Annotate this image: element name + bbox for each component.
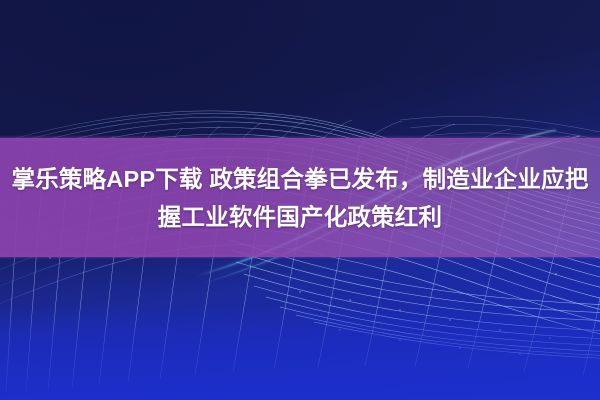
hero-banner: 掌乐策略APP下载 政策组合拳已发布，制造业企业应把握工业软件国产化政策红利 bbox=[0, 0, 600, 400]
headline-line-1: 掌乐策略APP下载 政策组合拳已发布，制造业企 bbox=[11, 166, 517, 192]
page-title: 掌乐策略APP下载 政策组合拳已发布，制造业企业应把握工业软件国产化政策红利 bbox=[4, 160, 596, 236]
headline-band: 掌乐策略APP下载 政策组合拳已发布，制造业企业应把握工业软件国产化政策红利 bbox=[0, 138, 600, 257]
